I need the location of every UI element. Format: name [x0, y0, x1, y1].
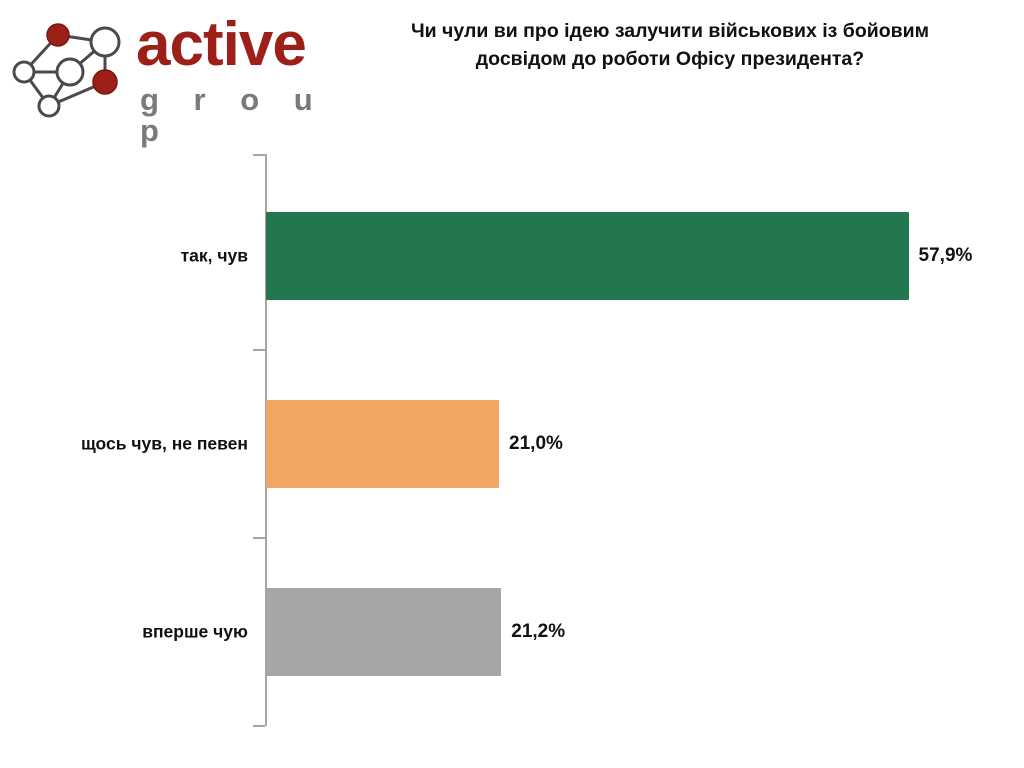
chart-title-line-1: Чи чули ви про ідею залучити військових …: [360, 18, 980, 46]
chart-title-line-2: досвідом до роботи Офісу президента?: [360, 46, 980, 74]
category-label-0: так, чув: [181, 246, 248, 267]
axis-tick-0: [253, 154, 265, 156]
bar-1: [266, 400, 499, 488]
logo-subword: g r o u p: [140, 84, 336, 146]
bar-chart: так, чув57,9%щось чув, не певен21,0%впер…: [0, 140, 1024, 750]
axis-tick-3: [253, 725, 265, 727]
bar-0: [266, 212, 909, 300]
value-label-1: 21,0%: [509, 433, 563, 455]
chart-title: Чи чули ви про ідею залучити військових …: [360, 18, 980, 73]
category-label-2: вперше чую: [142, 622, 248, 643]
active-group-logo: active g r o u p: [6, 6, 336, 124]
logo-wordmark: active: [136, 14, 306, 76]
axis-tick-2: [253, 537, 265, 539]
bar-2: [266, 588, 501, 676]
axis-tick-1: [253, 349, 265, 351]
category-label-1: щось чув, не певен: [81, 434, 248, 455]
value-label-2: 21,2%: [511, 621, 565, 643]
slide-canvas: active g r o u p Чи чули ви про ідею зал…: [0, 0, 1024, 768]
value-label-0: 57,9%: [919, 245, 973, 267]
network-graph-logo-icon: [8, 10, 124, 120]
